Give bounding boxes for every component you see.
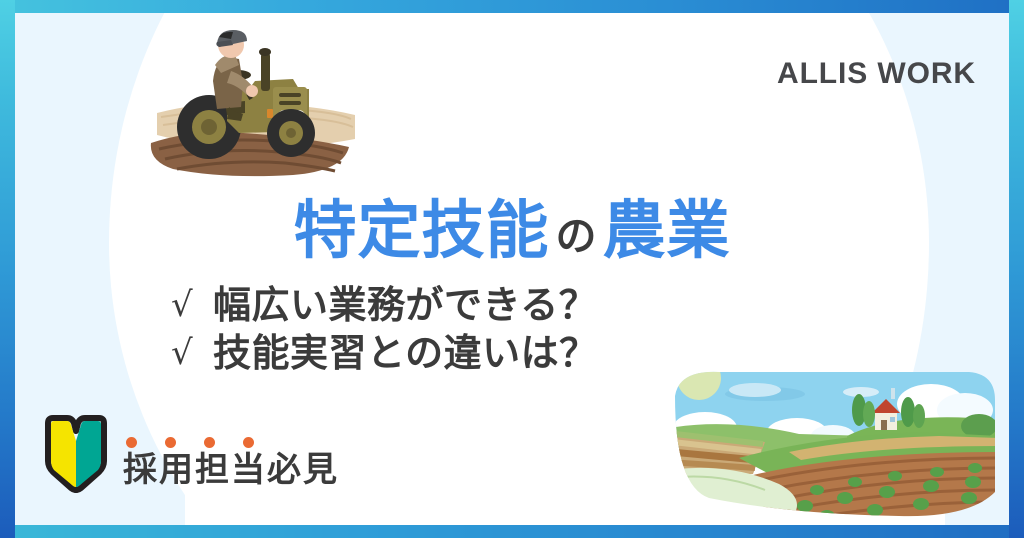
emphasis-dot xyxy=(204,437,215,448)
frame-bar-left xyxy=(0,0,15,538)
farmer-on-tractor-illustration xyxy=(143,21,367,186)
frame-bar-right xyxy=(1009,0,1024,538)
status-badge: 採用担当必見 xyxy=(43,415,339,493)
farmland-landscape-illustration xyxy=(669,366,999,521)
emphasis-dot xyxy=(165,437,176,448)
emphasis-dot xyxy=(126,437,137,448)
page-title-part1: 特定技能 xyxy=(294,194,550,267)
status-badge-label: 採用担当必見 xyxy=(123,453,339,487)
list-item: √ 技能実習との違いは？ xyxy=(171,329,598,377)
list-item-label: 幅広い業務ができる？ xyxy=(213,286,597,324)
check-icon: √ xyxy=(171,336,213,370)
brand-logo: ALLIS WORK xyxy=(777,57,976,91)
page-title-particle: の xyxy=(556,212,597,260)
frame-bar-top xyxy=(0,0,1024,13)
list-item-label: 技能実習との違いは？ xyxy=(213,334,598,372)
page-title-part2: 農業 xyxy=(603,194,731,267)
content-stage: ALLIS WORK 特定技能の農業 √ 幅広い業務ができる？ √ 技能実習との… xyxy=(15,13,1009,525)
emphasis-dot xyxy=(243,437,254,448)
banner-root: ALLIS WORK 特定技能の農業 √ 幅広い業務ができる？ √ 技能実習との… xyxy=(0,0,1024,538)
badge-text-wrap: 採用担当必見 xyxy=(123,437,339,487)
check-icon: √ xyxy=(171,288,213,322)
emphasis-dots-icon xyxy=(126,437,282,448)
frame-bar-bottom xyxy=(0,525,1024,538)
shoshinsha-mark-icon xyxy=(43,415,109,493)
page-title: 特定技能の農業 xyxy=(15,199,1009,262)
list-item: √ 幅広い業務ができる？ xyxy=(171,281,598,329)
feature-bullet-list: √ 幅広い業務ができる？ √ 技能実習との違いは？ xyxy=(171,281,598,377)
